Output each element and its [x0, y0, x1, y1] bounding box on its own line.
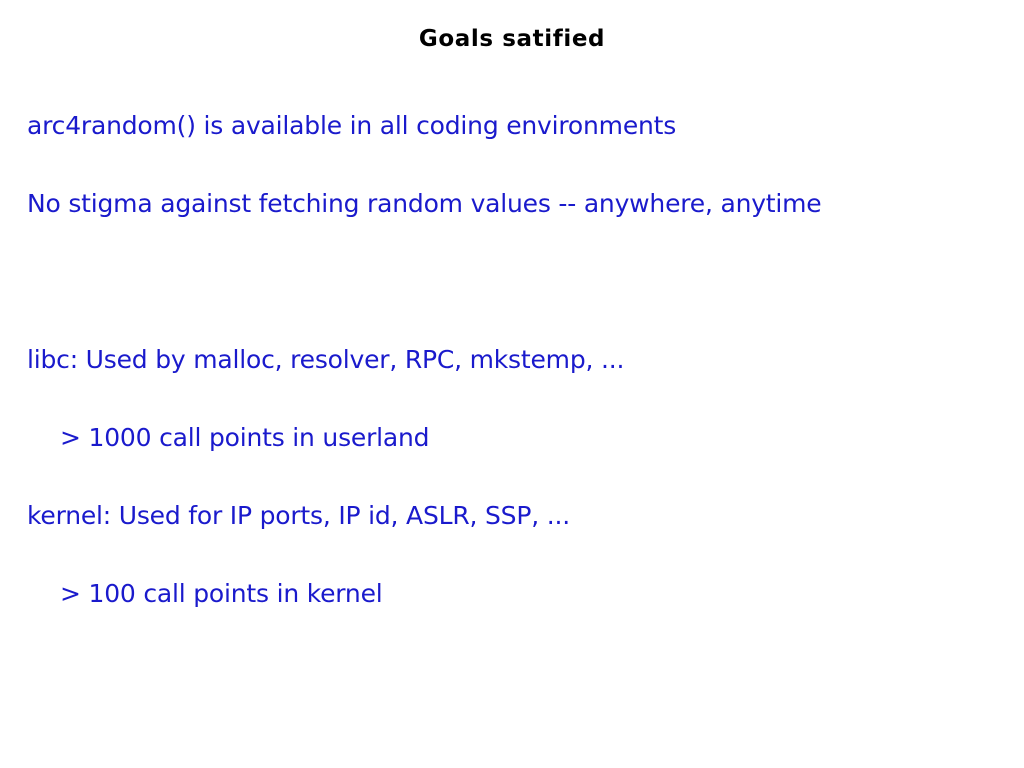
slide-canvas: Goals satified arc4random() is available… [0, 0, 1024, 768]
body-line-availability: arc4random() is available in all coding … [27, 106, 1007, 145]
body-spacer-3 [27, 262, 1007, 301]
slide-body: arc4random() is available in all coding … [27, 106, 1007, 613]
page-title: Goals satified [0, 26, 1024, 52]
body-line-libc: libc: Used by malloc, resolver, RPC, mks… [27, 340, 1007, 379]
body-line-no-stigma: No stigma against fetching random values… [27, 184, 1007, 223]
body-spacer-7 [27, 535, 1007, 574]
body-line-userland-calls: > 1000 call points in userland [60, 418, 1007, 457]
body-spacer-5 [27, 379, 1007, 418]
body-line-kernel: kernel: Used for IP ports, IP id, ASLR, … [27, 496, 1007, 535]
body-spacer-2 [27, 223, 1007, 262]
body-spacer-4 [27, 301, 1007, 340]
body-spacer-6 [27, 457, 1007, 496]
body-spacer-1 [27, 145, 1007, 184]
body-line-kernel-calls: > 100 call points in kernel [60, 574, 1007, 613]
